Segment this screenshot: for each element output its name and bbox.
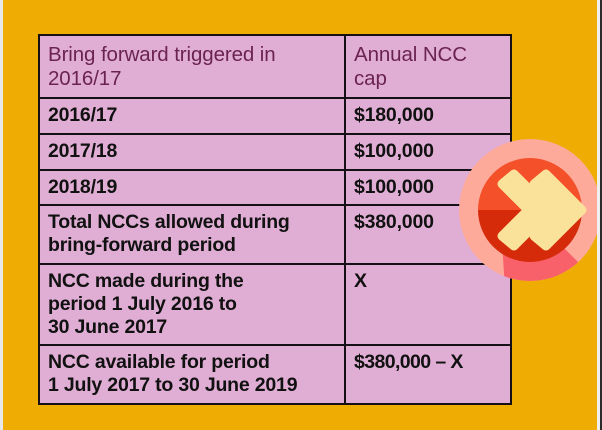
screenshot-canvas: Bring forward triggered in 2016/17 Annua… <box>0 0 602 430</box>
bring-forward-ncc-cap-table: Bring forward triggered in 2016/17 Annua… <box>38 34 512 405</box>
row-label-2018-19: 2018/19 <box>39 170 345 206</box>
row-value-ncc-made-during-period: X <box>345 264 511 345</box>
row-label-2016-17: 2016/17 <box>39 98 345 134</box>
row-value-ncc-available-for-period: $380,000 – X <box>345 345 511 404</box>
table-row: NCC available for period 1 July 2017 to … <box>39 345 511 404</box>
row-label-ncc-available-for-period: NCC available for period 1 July 2017 to … <box>39 345 345 404</box>
icon-long-shadow <box>502 242 602 282</box>
left-edge-strip <box>0 0 3 430</box>
row-value-2016-17: $180,000 <box>345 98 511 134</box>
row-label-ncc-made-during-period: NCC made during the period 1 July 2016 t… <box>39 264 345 345</box>
row-label-2017-18: 2017/18 <box>39 134 345 170</box>
row-value-total-nccs-allowed: $380,000 <box>345 205 511 264</box>
row-value-2017-18: $100,000 <box>345 134 511 170</box>
table-row: 2018/19 $100,000 <box>39 170 511 206</box>
table-row: NCC made during the period 1 July 2016 t… <box>39 264 511 345</box>
row-value-2018-19: $100,000 <box>345 170 511 206</box>
column-header-trigger-year: Bring forward triggered in 2016/17 <box>39 35 345 98</box>
table-row: 2017/18 $100,000 <box>39 134 511 170</box>
icon-chevron-second <box>534 174 582 246</box>
table-header-row: Bring forward triggered in 2016/17 Annua… <box>39 35 511 98</box>
table-row: 2016/17 $180,000 <box>39 98 511 134</box>
row-label-total-nccs-allowed: Total NCCs allowed during bring-forward … <box>39 205 345 264</box>
table-row: Total NCCs allowed during bring-forward … <box>39 205 511 264</box>
column-header-annual-ncc-cap: Annual NCC cap <box>345 35 511 98</box>
